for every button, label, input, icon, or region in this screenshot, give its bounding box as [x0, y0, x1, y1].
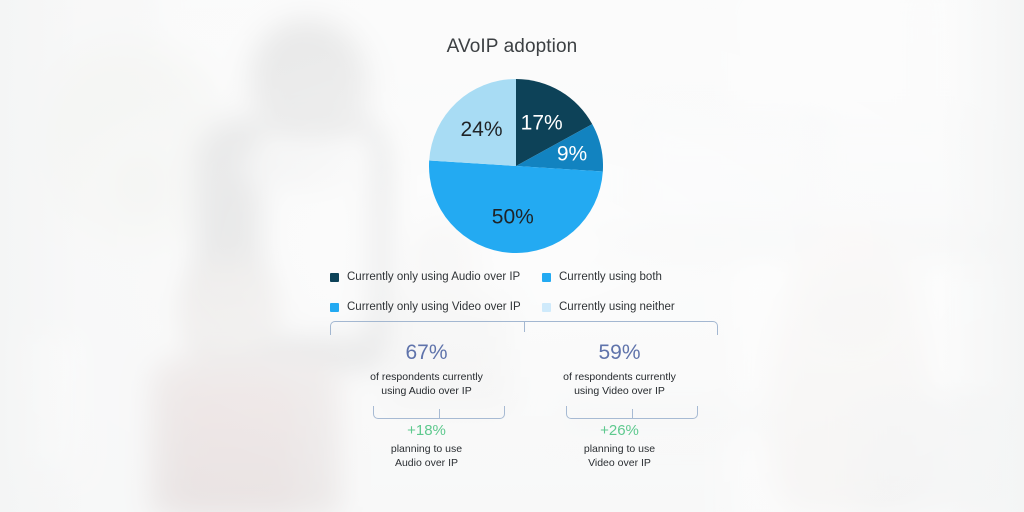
stat-current-video-caption-line1: of respondents currently	[523, 370, 716, 384]
bracket-top-tick	[524, 322, 525, 332]
stat-planning-video-caption-line1: planning to use	[523, 443, 716, 457]
legend-item-video-only[interactable]: Currently only using Video over IP	[330, 301, 542, 313]
legend-swatch-both	[542, 273, 551, 282]
pie-label-both: 9%	[557, 143, 587, 166]
bracket-bottom-video-tick	[632, 409, 633, 418]
legend-swatch-audio-only	[330, 273, 339, 282]
stat-planning-video-caption: planning to use Video over IP	[523, 443, 716, 470]
planning-stats: +18% planning to use Audio over IP +26% …	[330, 421, 716, 481]
stat-planning-audio: +18% planning to use Audio over IP	[330, 421, 523, 481]
bracket-bottom-video	[566, 406, 698, 419]
legend-label-video-only: Currently only using Video over IP	[347, 301, 521, 313]
bracket-bottom-row	[330, 406, 716, 420]
legend-label-both: Currently using both	[559, 271, 662, 283]
stat-current-audio-caption: of respondents currently using Audio ove…	[330, 370, 523, 398]
bracket-bottom-audio-tick	[439, 409, 440, 418]
stat-current-audio-value: 67%	[330, 340, 523, 366]
legend-swatch-video-only	[330, 303, 339, 312]
stat-planning-audio-caption-line1: planning to use	[330, 443, 523, 457]
pie-label-video-only: 50%	[492, 205, 534, 228]
stat-current-audio-caption-line1: of respondents currently	[330, 370, 523, 384]
stat-current-audio: 67% of respondents currently using Audio…	[330, 340, 523, 410]
bracket-top	[330, 321, 718, 335]
legend-label-neither: Currently using neither	[559, 301, 675, 313]
stat-current-video-value: 59%	[523, 340, 716, 366]
chart-legend: Currently only using Audio over IP Curre…	[330, 262, 720, 322]
stat-current-audio-caption-line2: using Audio over IP	[330, 384, 523, 398]
stat-planning-video-caption-line2: Video over IP	[523, 457, 716, 471]
pie-chart-svg: 17%9%50%24%	[429, 79, 603, 253]
chart-title: AVoIP adoption	[0, 36, 1024, 58]
legend-item-neither[interactable]: Currently using neither	[542, 301, 720, 313]
pie-label-audio-only: 17%	[521, 112, 563, 135]
stat-planning-video-value: +26%	[523, 421, 716, 440]
current-usage-stats: 67% of respondents currently using Audio…	[330, 340, 716, 410]
stat-planning-audio-caption-line2: Audio over IP	[330, 457, 523, 471]
legend-item-both[interactable]: Currently using both	[542, 271, 720, 283]
legend-swatch-neither	[542, 303, 551, 312]
pie-label-neither: 24%	[460, 118, 502, 141]
stat-planning-audio-caption: planning to use Audio over IP	[330, 443, 523, 470]
stat-current-video: 59% of respondents currently using Video…	[523, 340, 716, 410]
bracket-bottom-audio	[373, 406, 505, 419]
legend-item-audio-only[interactable]: Currently only using Audio over IP	[330, 271, 542, 283]
pie-chart: 17%9%50%24%	[429, 79, 603, 253]
stat-planning-audio-value: +18%	[330, 421, 523, 440]
infographic-stage: AVoIP adoption 17%9%50%24% C	[0, 0, 1024, 512]
avoip-infographic: AVoIP adoption 17%9%50%24% C	[0, 0, 1024, 512]
stat-current-video-caption-line2: using Video over IP	[523, 384, 716, 398]
stat-planning-video: +26% planning to use Video over IP	[523, 421, 716, 481]
stat-current-video-caption: of respondents currently using Video ove…	[523, 370, 716, 398]
legend-label-audio-only: Currently only using Audio over IP	[347, 271, 520, 283]
